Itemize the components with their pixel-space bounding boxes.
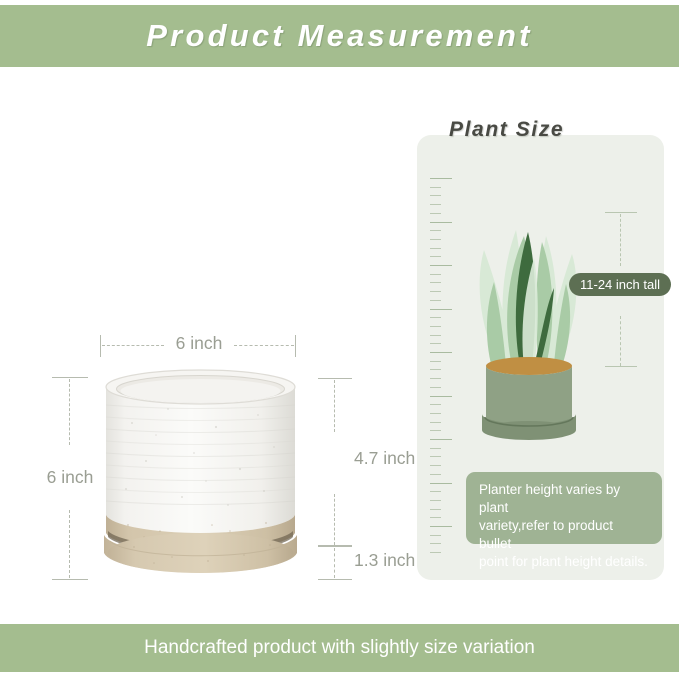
ruler-tick-major xyxy=(430,222,452,223)
dimension-cap-bottom xyxy=(605,366,637,367)
dimension-cap-bottom xyxy=(52,579,88,580)
ruler-tick-minor xyxy=(430,517,441,518)
dimension-dash-bottom xyxy=(69,510,70,578)
ruler-tick-minor xyxy=(430,535,441,536)
footer-note: Handcrafted product with slightly size v… xyxy=(144,637,535,659)
dimension-dash-top xyxy=(334,380,335,432)
dimension-saucer-height-label: 1.3 inch xyxy=(354,550,415,571)
ruler-tick-major xyxy=(430,265,452,266)
ruler-tick-minor xyxy=(430,465,441,466)
dimension-dash-left xyxy=(102,345,164,346)
ruler-tick-minor xyxy=(430,335,441,336)
ruler-tick-minor xyxy=(430,474,441,475)
plant-height-note: Planter height varies by plant variety,r… xyxy=(466,472,662,544)
ruler-tick-minor xyxy=(430,430,441,431)
ruler-tick-minor xyxy=(430,404,441,405)
dimension-pot-height: 4.7 inch xyxy=(318,378,352,546)
plant-height-badge-label: 11-24 inch tall xyxy=(580,277,660,292)
ruler-tick-minor xyxy=(430,213,441,214)
ruler-tick-major xyxy=(430,396,452,397)
ruler-tick-minor xyxy=(430,422,441,423)
dimension-dash-top xyxy=(69,379,70,445)
ruler-tick-minor xyxy=(430,282,441,283)
dimension-dash-bottom xyxy=(620,316,621,366)
ruler-tick-minor xyxy=(430,413,441,414)
ruler-tick-minor xyxy=(430,456,441,457)
ruler-tick-minor xyxy=(430,378,441,379)
ruler-tick-minor xyxy=(430,291,441,292)
plant-height-badge: 11-24 inch tall xyxy=(569,273,671,296)
dimension-cap-top xyxy=(605,212,637,213)
dimension-dash-bottom xyxy=(334,494,335,545)
note-line-2: variety,refer to product bullet xyxy=(479,517,649,553)
dimension-cap-left xyxy=(100,335,101,357)
ruler-scale xyxy=(430,178,456,563)
ruler-tick-minor xyxy=(430,369,441,370)
ruler-tick-major xyxy=(430,483,452,484)
dimension-dash-right xyxy=(234,345,294,346)
ruler-tick-major xyxy=(430,352,452,353)
ruler-tick-minor xyxy=(430,300,441,301)
ruler-tick-minor xyxy=(430,248,441,249)
dimension-total-height: 6 inch xyxy=(52,377,88,580)
ruler-tick-minor xyxy=(430,543,441,544)
ruler-tick-minor xyxy=(430,239,441,240)
dimension-cap-top xyxy=(318,378,352,379)
ruler-tick-minor xyxy=(430,326,441,327)
ruler-tick-minor xyxy=(430,343,441,344)
ruler-tick-minor xyxy=(430,387,441,388)
dimension-width: 6 inch xyxy=(100,335,296,357)
dimension-pot-height-label: 4.7 inch xyxy=(354,448,415,469)
ruler-tick-minor xyxy=(430,500,441,501)
header-band: Product Measurement xyxy=(0,5,679,67)
dimension-dash xyxy=(334,548,335,578)
snake-plant-illustration xyxy=(462,196,597,441)
note-line-1: Planter height varies by plant xyxy=(479,481,649,517)
plant-size-title: Plant Size xyxy=(449,118,564,142)
ruler-tick-minor xyxy=(430,361,441,362)
dimension-dash-top xyxy=(620,214,621,266)
ruler-tick-minor xyxy=(430,230,441,231)
ruler-tick-major xyxy=(430,178,452,179)
note-line-3: point for plant height details. xyxy=(479,553,649,571)
dimension-total-height-label: 6 inch xyxy=(14,467,126,488)
ruler-tick-major xyxy=(430,309,452,310)
ruler-tick-minor xyxy=(430,195,441,196)
ruler-tick-minor xyxy=(430,204,441,205)
dimension-cap-bottom xyxy=(318,579,352,580)
ruler-tick-minor xyxy=(430,274,441,275)
dimension-cap-top xyxy=(318,546,352,547)
dimension-saucer-height: 1.3 inch xyxy=(318,546,352,580)
ruler-tick-minor xyxy=(430,256,441,257)
ruler-tick-major xyxy=(430,439,452,440)
planter-pot-image xyxy=(98,365,303,580)
product-measurement-infographic: Product Measurement xyxy=(0,0,679,678)
dimension-width-label: 6 inch xyxy=(162,333,236,354)
dimension-cap-right xyxy=(295,335,296,357)
ruler-tick-minor xyxy=(430,187,441,188)
ruler-tick-major xyxy=(430,526,452,527)
dimension-cap-top xyxy=(52,377,88,378)
ruler-tick-minor xyxy=(430,317,441,318)
ruler-tick-minor xyxy=(430,448,441,449)
ruler-tick-minor xyxy=(430,509,441,510)
footer-band: Handcrafted product with slightly size v… xyxy=(0,624,679,672)
pot-measurement-stage: 6 inch 6 inch 4.7 inch 1.3 inch xyxy=(0,80,400,600)
ruler-tick-minor xyxy=(430,491,441,492)
page-title: Product Measurement xyxy=(146,18,532,54)
ruler-tick-minor xyxy=(430,552,441,553)
